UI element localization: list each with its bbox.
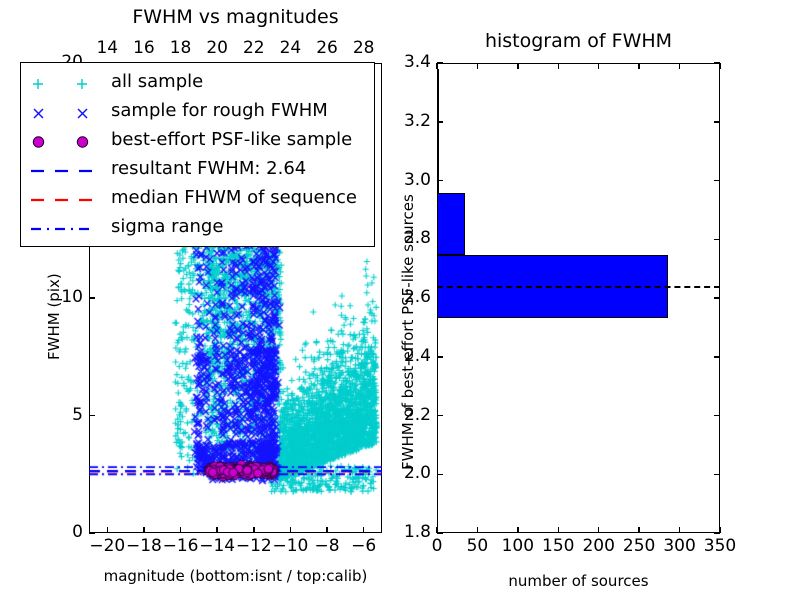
hist-y-tick-label: 2.2 bbox=[385, 407, 431, 424]
hist-y-tick-label: 1.8 bbox=[385, 524, 431, 541]
y-tick-label: 0 bbox=[41, 524, 83, 541]
hist-y-tick bbox=[437, 415, 443, 417]
histogram-bar bbox=[437, 193, 465, 255]
hist-x-tick-top bbox=[598, 63, 600, 69]
x-tick-label-top: 28 bbox=[342, 40, 386, 57]
hist-y-tick bbox=[437, 474, 443, 476]
hist-y-tick-right bbox=[714, 532, 720, 534]
scatter-plot-title: FWHM vs magnitudes bbox=[89, 6, 382, 28]
legend-label: best-effort PSF-like sample bbox=[111, 129, 352, 150]
hist-x-tick-top bbox=[679, 63, 681, 69]
legend-dashed-line-icon bbox=[21, 185, 111, 215]
legend-row: median FHWM of sequence bbox=[21, 185, 374, 215]
hist-x-tick-label: 350 bbox=[694, 538, 746, 555]
histogram-bar bbox=[437, 131, 439, 193]
hist-y-tick-right bbox=[714, 239, 720, 241]
hist-x-tick bbox=[517, 527, 519, 533]
legend-label: sigma range bbox=[111, 216, 223, 237]
histogram-x-axis-label: number of sources bbox=[437, 572, 720, 590]
histogram-bar bbox=[437, 69, 439, 131]
hist-y-tick-right bbox=[714, 180, 720, 182]
legend-row: sigma range bbox=[21, 214, 374, 244]
hist-x-tick-top bbox=[638, 63, 640, 69]
scatter-x-axis-label: magnitude (bottom:isnt / top:calib) bbox=[89, 567, 382, 585]
hist-y-tick-right bbox=[714, 356, 720, 358]
hist-x-tick-top bbox=[719, 63, 721, 69]
hist-y-tick-right bbox=[714, 62, 720, 64]
legend-row: all sample bbox=[21, 69, 374, 99]
legend-label: all sample bbox=[111, 71, 203, 92]
legend-label: sample for rough FWHM bbox=[111, 100, 328, 121]
hist-x-tick bbox=[477, 527, 479, 533]
hist-y-tick-label: 3.0 bbox=[385, 172, 431, 189]
hist-y-tick bbox=[437, 532, 443, 534]
x-tick-label: −6 bbox=[342, 538, 386, 555]
plot-legend: all samplesample for rough FWHMbest-effo… bbox=[20, 62, 375, 247]
legend-row: sample for rough FWHM bbox=[21, 98, 374, 128]
legend-plus-icon bbox=[21, 69, 111, 99]
hist-x-tick-top bbox=[517, 63, 519, 69]
y-tick-label: 10 bbox=[41, 289, 83, 306]
hist-x-tick bbox=[679, 527, 681, 533]
legend-cross-icon bbox=[21, 98, 111, 128]
hist-x-tick-top bbox=[558, 63, 560, 69]
hist-y-tick-label: 2.4 bbox=[385, 348, 431, 365]
hist-y-tick-label: 2.6 bbox=[385, 289, 431, 306]
hist-y-tick-label: 2.0 bbox=[385, 465, 431, 482]
hist-y-tick-label: 3.4 bbox=[385, 54, 431, 71]
histogram-title: histogram of FWHM bbox=[437, 30, 720, 52]
hist-y-tick-right bbox=[714, 297, 720, 299]
legend-dashed-line-icon bbox=[21, 156, 111, 186]
histogram-reference-line bbox=[437, 286, 720, 288]
hist-y-tick bbox=[437, 356, 443, 358]
hist-x-tick bbox=[638, 527, 640, 533]
y-tick-label: 5 bbox=[41, 407, 83, 424]
legend-row: resultant FWHM: 2.64 bbox=[21, 156, 374, 186]
hist-x-tick bbox=[558, 527, 560, 533]
hist-y-tick-right bbox=[714, 415, 720, 417]
hist-y-tick-right bbox=[714, 121, 720, 123]
legend-dashdot-line-icon bbox=[21, 214, 111, 244]
hist-y-tick-label: 2.8 bbox=[385, 230, 431, 247]
scatter-y-axis-label: FWHM (pix) bbox=[45, 273, 63, 360]
legend-circle-icon bbox=[21, 127, 111, 157]
legend-label: resultant FWHM: 2.64 bbox=[111, 158, 306, 179]
legend-label: median FHWM of sequence bbox=[111, 187, 357, 208]
hist-y-tick-label: 3.2 bbox=[385, 113, 431, 130]
hist-y-tick bbox=[437, 62, 443, 64]
hist-x-tick bbox=[598, 527, 600, 533]
hist-y-tick-right bbox=[714, 474, 720, 476]
hist-x-tick-top bbox=[477, 63, 479, 69]
legend-row: best-effort PSF-like sample bbox=[21, 127, 374, 157]
